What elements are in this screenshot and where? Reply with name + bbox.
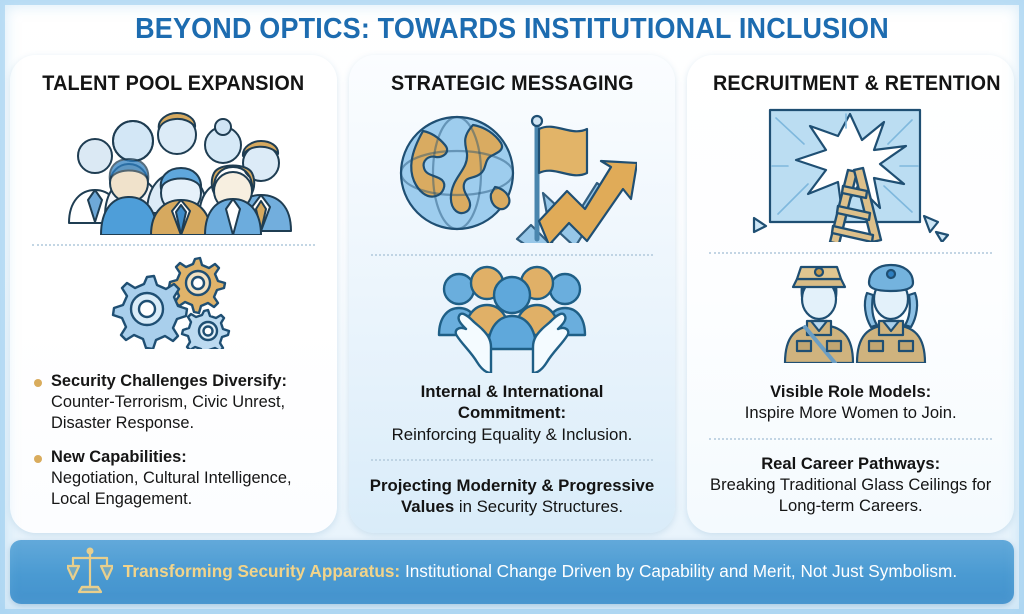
scales-of-justice-icon [67, 545, 113, 600]
two-women-officers-icon [701, 260, 1000, 364]
gears-icon [24, 252, 323, 350]
column-strategic-messaging: STRATEGIC MESSAGING [349, 55, 676, 533]
column-3-block-2: Real Career Pathways: Breaking Tradition… [701, 454, 1000, 523]
block-body: Reinforcing Equality & Inclusion. [392, 425, 633, 444]
column-2-heading: STRATEGIC MESSAGING [375, 71, 650, 96]
footer-body: Institutional Change Driven by Capabilit… [400, 561, 957, 581]
bullet-dot-icon [34, 455, 42, 463]
column-2-spacer [363, 374, 662, 381]
column-3-heading: RECRUITMENT & RETENTION [713, 71, 988, 96]
block-lead: Visible Role Models: [770, 382, 931, 401]
column-3-spacer [701, 364, 1000, 382]
bullet-dot-icon [34, 379, 42, 387]
column-3-divider-top [709, 252, 992, 254]
footer-banner: Transforming Security Apparatus: Institu… [10, 540, 1014, 604]
column-1-spacer [24, 350, 323, 369]
bullet-lead: Security Challenges Diversify: [51, 372, 287, 390]
block-lead: Internal & International Commitment: [421, 382, 604, 422]
bullet-body: Negotiation, Cultural Intelligence, Loca… [51, 469, 292, 508]
block-lead: Real Career Pathways: [761, 454, 940, 473]
infographic-poster: BEYOND OPTICS: TOWARDS INSTITUTIONAL INC… [0, 0, 1024, 614]
ladder-breaking-glass-ceiling-icon [701, 98, 1000, 246]
column-talent-pool-expansion: TALENT POOL EXPANSION [10, 55, 337, 533]
block-body: Inspire More Women to Join. [745, 403, 957, 422]
globe-flag-growth-arrow-icon [363, 98, 662, 248]
column-3-block-1: Visible Role Models: Inspire More Women … [701, 382, 1000, 424]
column-2-divider-bottom [371, 459, 654, 461]
group-of-people-icon [24, 98, 323, 238]
column-2-divider-top [371, 254, 654, 256]
column-1-bullets: Security Challenges Diversify: Counter-T… [24, 369, 323, 523]
hands-holding-people-icon [363, 262, 662, 374]
footer-text: Transforming Security Apparatus: Institu… [123, 561, 957, 583]
list-item: Security Challenges Diversify: Counter-T… [34, 371, 319, 434]
page-title: BEYOND OPTICS: TOWARDS INSTITUTIONAL INC… [36, 0, 988, 55]
list-item: New Capabilities: Negotiation, Cultural … [34, 447, 319, 510]
column-1-heading: TALENT POOL EXPANSION [36, 71, 311, 96]
bullet-lead: New Capabilities: [51, 448, 187, 466]
block-body: in Security Structures. [454, 497, 623, 516]
column-3-divider-bottom [709, 438, 992, 440]
column-1-divider [32, 244, 315, 246]
columns-container: TALENT POOL EXPANSION [0, 55, 1024, 533]
column-2-block-2: Projecting Modernity & Progressive Value… [363, 475, 662, 523]
bullet-body: Counter-Terrorism, Civic Unrest, Disaste… [51, 393, 285, 432]
block-body: Breaking Traditional Glass Ceilings for … [710, 475, 991, 515]
footer-lead: Transforming Security Apparatus: [123, 561, 400, 581]
column-recruitment-retention: RECRUITMENT & RETENTION [687, 55, 1014, 533]
column-2-block-1: Internal & International Commitment: Rei… [363, 381, 662, 444]
